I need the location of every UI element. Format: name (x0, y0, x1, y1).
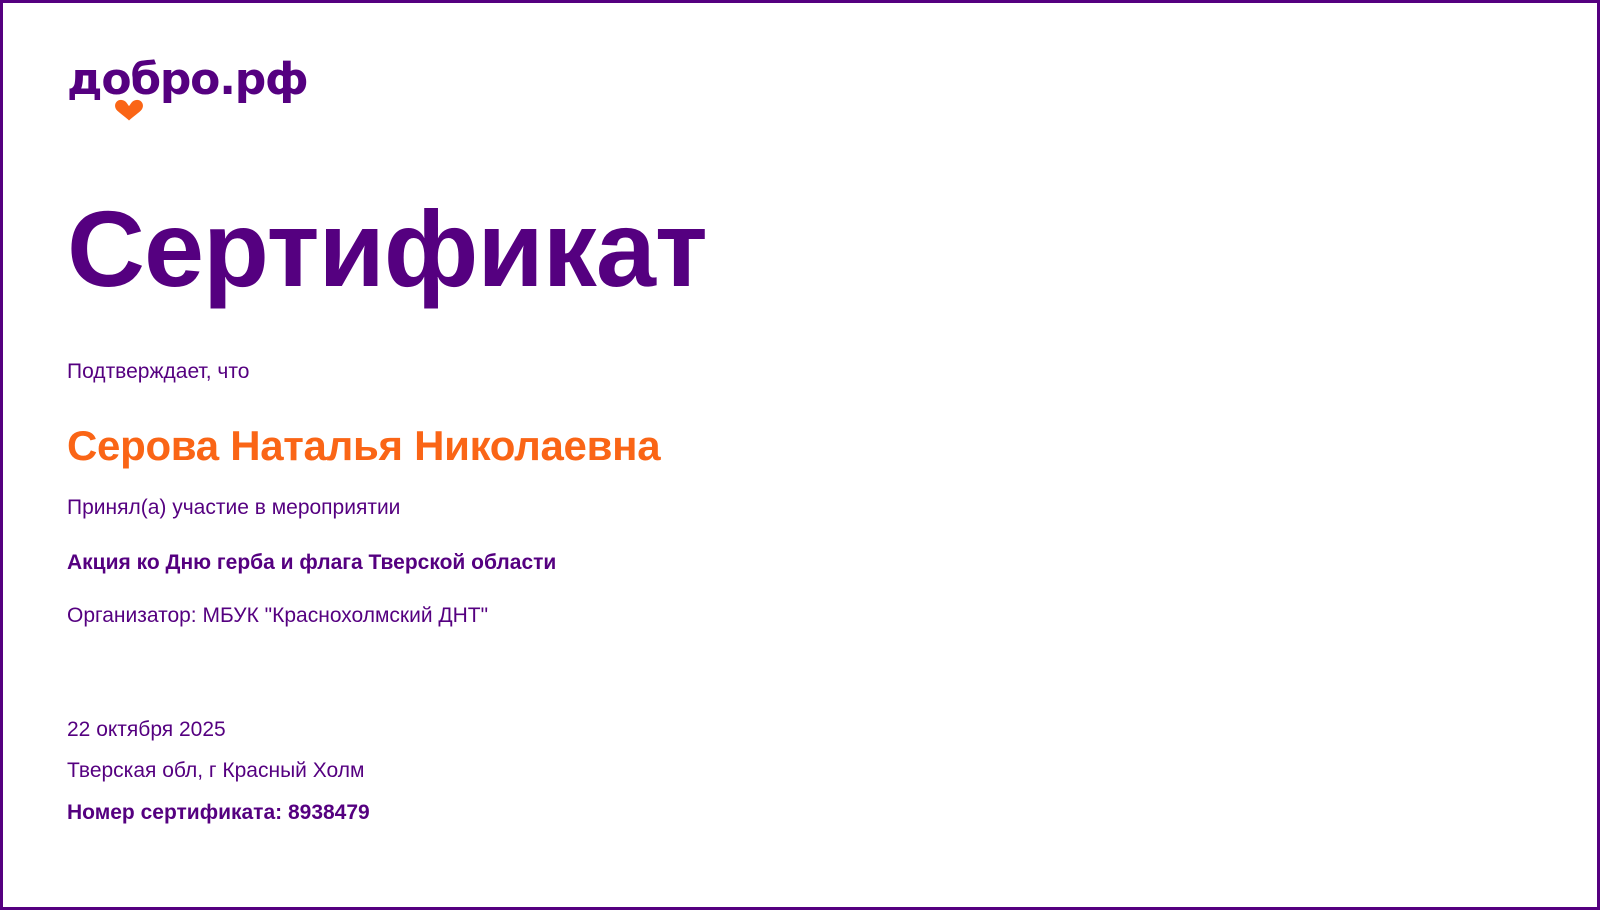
recipient-name: Серова Наталья Николаевна (67, 421, 660, 471)
heart-icon (114, 99, 144, 121)
brand-logo-wordmark: добро.рф (67, 58, 307, 102)
page-title: Сертификат (67, 195, 707, 303)
issue-location: Тверская обл, г Красный Холм (67, 757, 370, 784)
certificate-number: Номер сертификата: 8938479 (67, 799, 370, 826)
certificate-page: добро.рф Сертификат Подтверждает, что Се… (0, 0, 1600, 910)
organizer-line: Организатор: МБУК "Краснохолмский ДНТ" (67, 602, 488, 629)
event-name: Акция ко Дню герба и флага Тверской обла… (67, 549, 556, 576)
certificate-footer: 22 октября 2025 Тверская обл, г Красный … (67, 716, 370, 826)
certificate-content: добро.рф Сертификат Подтверждает, что Се… (67, 3, 1557, 907)
intro-line: Подтверждает, что (67, 358, 249, 385)
brand-logo: добро.рф (67, 58, 307, 120)
issue-date: 22 октября 2025 (67, 716, 370, 743)
participation-line: Принял(а) участие в мероприятии (67, 494, 400, 521)
